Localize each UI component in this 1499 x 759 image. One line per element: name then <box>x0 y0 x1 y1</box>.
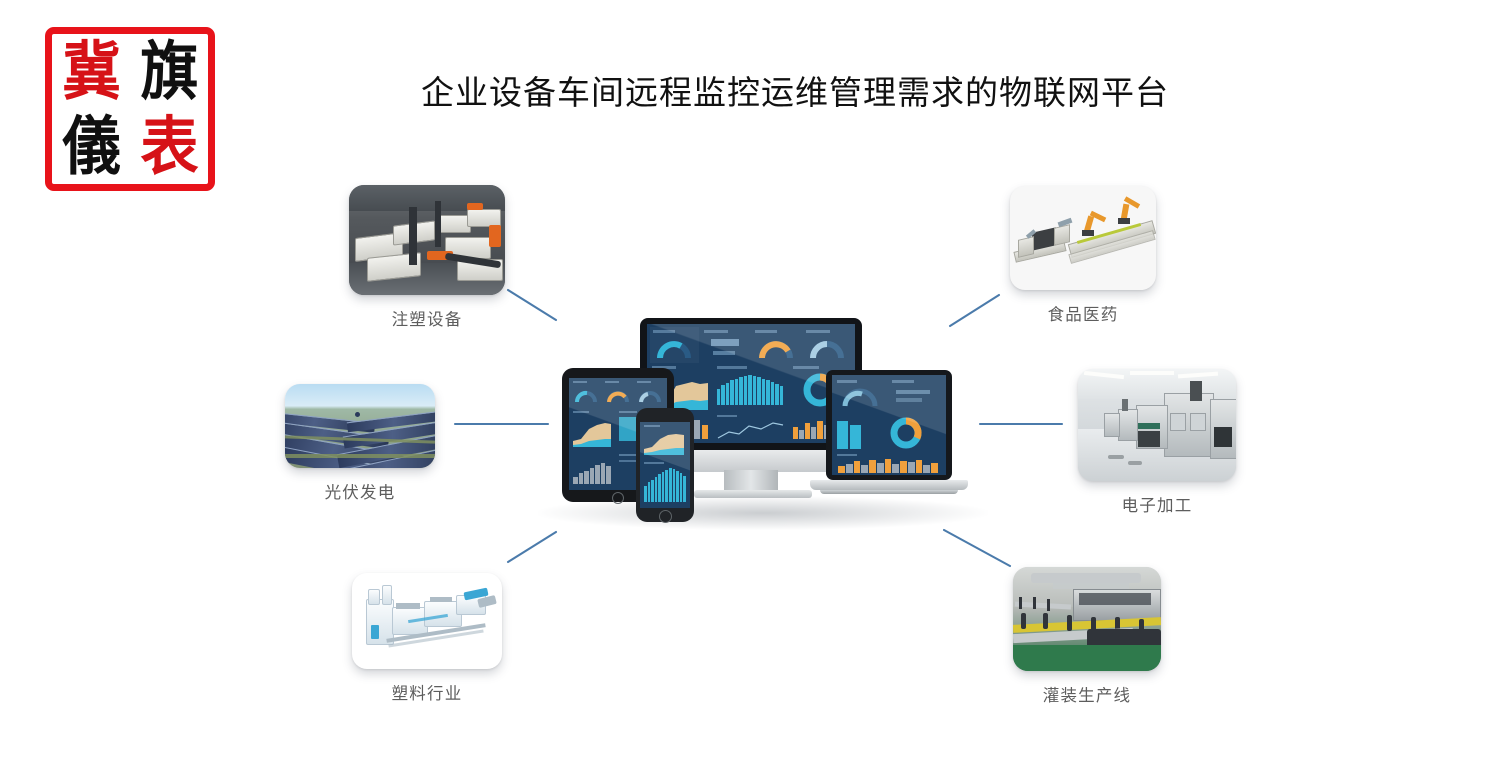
node-plastics[interactable]: 塑料行业 <box>352 573 502 704</box>
node-label-injection-molding: 注塑设备 <box>349 306 505 330</box>
diagram-canvas: 冀 旗 儀 表 企业设备车间远程监控运维管理需求的物联网平台 <box>0 0 1499 759</box>
injection-molding-thumbnail <box>349 185 505 295</box>
food-pharma-thumbnail <box>1010 186 1156 290</box>
logo-char-4: 表 <box>140 115 198 179</box>
laptop-screen <box>832 375 946 475</box>
logo-char-3: 儀 <box>62 115 120 179</box>
line-to-plastics <box>508 532 556 562</box>
node-label-plastics: 塑料行业 <box>352 680 502 704</box>
node-injection-molding[interactable]: 注塑设备 <box>349 185 505 330</box>
photovoltaic-thumbnail <box>285 384 435 468</box>
node-label-photovoltaic: 光伏发电 <box>285 479 435 503</box>
line-to-filling-line <box>944 530 1010 566</box>
phone-screen <box>640 422 690 508</box>
node-label-electronics: 电子加工 <box>1078 492 1236 516</box>
filling-line-thumbnail <box>1013 567 1161 671</box>
node-label-food-pharma: 食品医药 <box>1010 301 1156 325</box>
node-photovoltaic[interactable]: 光伏发电 <box>285 384 435 503</box>
multi-device-dashboard <box>548 310 978 530</box>
node-filling-line[interactable]: 灌装生产线 <box>1013 567 1161 706</box>
page-title: 企业设备车间远程监控运维管理需求的物联网平台 <box>330 66 1260 114</box>
node-electronics[interactable]: 电子加工 <box>1078 369 1236 516</box>
logo-char-1: 冀 <box>62 40 120 104</box>
electronics-thumbnail <box>1078 369 1236 481</box>
node-label-filling-line: 灌装生产线 <box>1013 682 1161 706</box>
company-logo: 冀 旗 儀 表 <box>45 27 215 191</box>
logo-character-grid: 冀 旗 儀 表 <box>52 34 208 184</box>
node-food-pharma[interactable]: 食品医药 <box>1010 186 1156 325</box>
logo-char-2: 旗 <box>140 40 198 104</box>
plastics-thumbnail <box>352 573 502 669</box>
